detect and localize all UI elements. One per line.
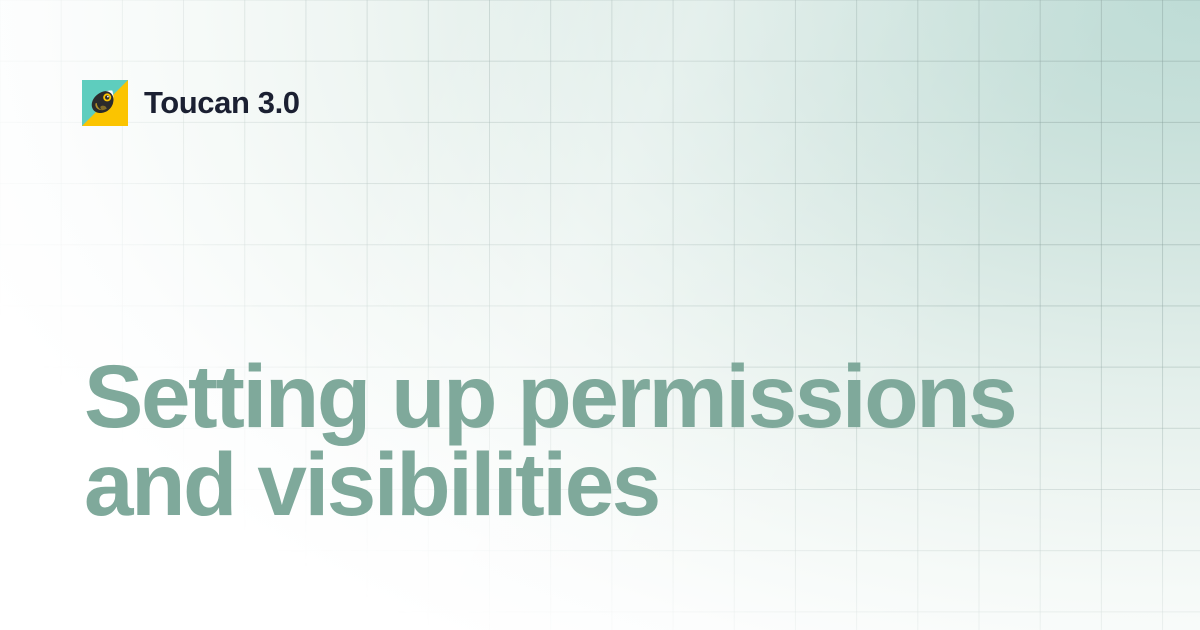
brand-name-label: Toucan 3.0 — [144, 80, 300, 126]
brand-lockup: Toucan 3.0 — [82, 80, 300, 126]
page-title: Setting up permissions and visibilities — [84, 352, 1144, 528]
og-banner-card: Toucan 3.0 Setting up permissions and vi… — [0, 0, 1200, 630]
toucan-logo-icon — [82, 80, 128, 126]
